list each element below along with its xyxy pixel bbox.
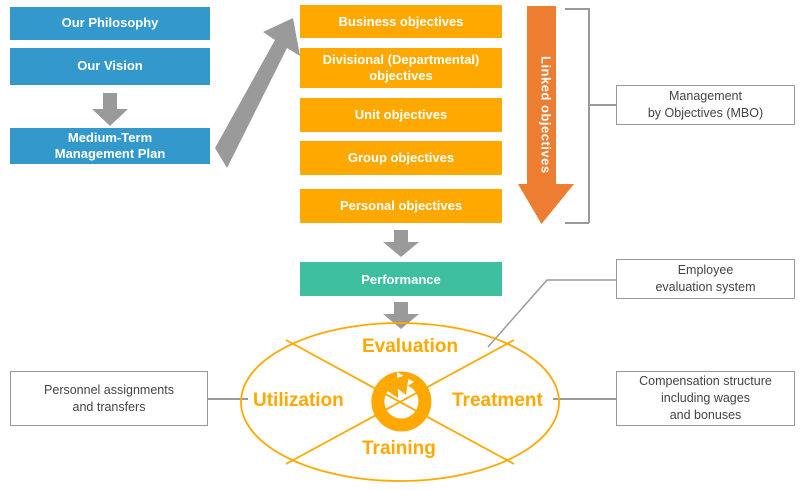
wheel-label-evaluation: Evaluation: [362, 336, 458, 358]
cycle-arrow-icon: [368, 368, 435, 436]
linked-objectives-arrow: Linked objectives: [518, 6, 574, 224]
performance-label: Performance: [361, 272, 440, 287]
linked-objectives-label: Linked objectives: [518, 6, 574, 272]
objective-box-personal: Personal objectives: [300, 189, 502, 223]
diagram-canvas: Our Philosophy Our Vision Medium-Term Ma…: [0, 0, 800, 490]
note-box-label: Employee evaluation system: [655, 262, 755, 296]
objective-box-label: Personal objectives: [340, 198, 462, 214]
wheel-label-utilization: Utilization: [253, 390, 344, 412]
note-box-label: Compensation structure including wages a…: [639, 373, 772, 424]
arrow-down-to-medium-term-plan: [92, 93, 128, 126]
note-box-personnel-assignments: Personnel assignments and transfers: [10, 371, 208, 426]
bracket-top-stub: [565, 8, 589, 10]
note-box-label: Management by Objectives (MBO): [648, 88, 763, 122]
bracket-bottom-stub: [565, 222, 589, 224]
note-box-mbo: Management by Objectives (MBO): [616, 85, 795, 125]
note-box-compensation: Compensation structure including wages a…: [616, 371, 795, 426]
connector-compensation-to-wheel: [553, 398, 616, 400]
strategy-box-label: Our Vision: [77, 58, 143, 74]
objective-box-group: Group objectives: [300, 141, 502, 175]
objective-box-label: Divisional (Departmental) objectives: [323, 52, 480, 83]
arrow-diagonal-to-objectives: [215, 18, 300, 168]
objective-box-unit: Unit objectives: [300, 98, 502, 132]
objective-box-label: Group objectives: [348, 150, 454, 166]
strategy-box-our-vision: Our Vision: [10, 48, 210, 85]
objective-box-business: Business objectives: [300, 5, 502, 38]
bracket-to-mbo-connector: [588, 104, 618, 106]
strategy-box-our-philosophy: Our Philosophy: [10, 7, 210, 40]
performance-box: Performance: [300, 262, 502, 296]
wheel-label-treatment: Treatment: [452, 390, 543, 412]
objective-box-label: Unit objectives: [355, 107, 447, 123]
strategy-box-medium-term-plan: Medium-Term Management Plan: [10, 128, 210, 164]
strategy-box-label: Medium-Term Management Plan: [55, 130, 166, 163]
arrow-down-to-performance: [383, 230, 419, 257]
note-box-label: Personnel assignments and transfers: [44, 382, 174, 416]
objective-box-label: Business objectives: [339, 14, 464, 30]
strategy-box-label: Our Philosophy: [62, 15, 159, 31]
wheel-label-training: Training: [362, 438, 436, 460]
objective-box-divisional: Divisional (Departmental) objectives: [300, 48, 502, 88]
bracket-vertical: [588, 8, 590, 223]
note-box-employee-evaluation: Employee evaluation system: [616, 259, 795, 299]
